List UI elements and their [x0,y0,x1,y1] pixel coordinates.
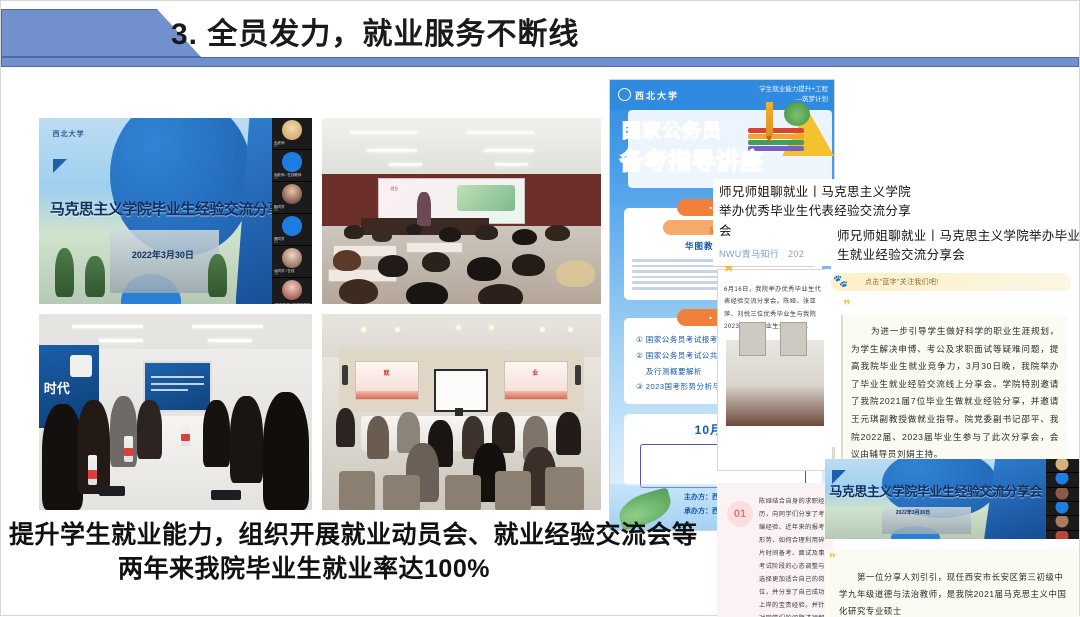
projection-screen: 就业 [378,178,525,225]
screen-heading: 就 [383,368,389,377]
participant-tile [1046,473,1079,487]
slide-title-bar: 3. 全员发力，就业服务不断线 [1,9,1079,65]
meeting-slide-title: 马克思主义学院毕业生经验交流分享会 [829,481,1042,500]
mid-card-text: 陈娅结合自身的求职经历，向同学们分享了考编经验、近年来的报考形势、如何合理利用碎… [759,495,829,617]
avatar [282,248,302,268]
avatar [282,216,302,236]
participant-video-rail [1046,459,1079,539]
quote-mark-icon: ❞ [843,297,851,314]
section-number-badge: 01 [727,501,753,527]
participant-tile: 王老师 [272,118,312,150]
meeting-status-text: 安全会议 · 已开始录制 [274,303,311,304]
participant-tile [1046,502,1079,516]
caption-line-1: 提升学生就业能力，组织开展就业动员会、就业经验交流会等 [9,519,599,553]
tree-icon [85,256,104,297]
tree-icon [208,254,227,297]
avatar [1056,516,1069,528]
avatar [1056,473,1069,485]
mid-card-photo [726,340,824,426]
article-source: NWU青马知行 [719,249,779,259]
meeting-slide-title: 马克思主义学院毕业生经验交流分享会 [50,198,297,219]
photo-round-table-meeting: 时代 [39,314,312,510]
round-table-scene: 时代 [39,314,312,510]
avatar [282,280,302,300]
projection-screen-right: 业 [504,361,567,400]
avatar [1056,531,1069,539]
participant-tile [1046,516,1079,530]
avatar [282,120,302,140]
meeting-slide-date: 2022年3月30日 [132,248,194,261]
tree-icon [784,102,810,126]
presentation-slide: 3. 全员发力，就业服务不断线 西北大学 马克思主义学院毕业生经验交流分享会 2… [0,0,1080,616]
participant-tile [1046,459,1079,473]
logo-mark-icon [618,88,631,101]
participant-name: 王老师 [274,141,285,146]
follow-prompt-bar[interactable]: 🐾 点击"蓝字"关注我们吧! [831,273,1071,291]
participant-video-rail: 王老师 刘老师 / 在线教师 陈同学 罗同学 [272,118,312,304]
participant-name: 罗同学 [274,237,285,242]
caption-text: 第一位分享人刘引引，现任西安市长安区第三初级中学九年级道德与法治教师，是我院20… [839,569,1069,617]
participant-tile [1046,531,1079,539]
mid-article-column: ★ 6月16日，我院举办优秀毕业生代表经验交流分享会。陈娅、张亚萍、刘悦三位优秀… [717,269,833,617]
meeting-shared-slide: 马克思主义学院毕业生经验交流分享会 2022年3月30日 [825,459,1046,539]
avatar [1056,488,1069,500]
projection-screen-left: 就 [355,361,418,400]
photo-lecture-hall: 就业 [322,118,601,304]
embedded-meeting-screenshot: 马克思主义学院毕业生经验交流分享会 2022年3月30日 [825,459,1079,539]
mid-article-card-2: 01 陈娅结合自身的求职经历，向同学们分享了考编经验、近年来的报考形势、如何合理… [717,483,833,617]
participant-tile: 刘老师 / 在线教师 [272,150,312,182]
campus-building [110,230,219,293]
slide-caption: 提升学生就业能力，组织开展就业动员会、就业经验交流会等 两年来我院毕业生就业率达… [9,519,599,587]
participant-name: 陈同学 [274,205,285,210]
poster-headline-red: 国家公务员 [622,116,722,143]
avatar [282,184,302,204]
audience-seating [322,220,601,304]
caption-line-2: 两年来我院毕业生就业率达100% [9,553,599,587]
pencil-icon [766,102,773,136]
participant-tile: 安全会议 · 已开始录制 [272,278,312,304]
avatar [282,152,302,172]
wechat-article-body: 🐾 点击"蓝字"关注我们吧! ❞ 为进一步引导学生做好科学的职业生涯规划，为学生… [825,269,1079,447]
participant-tile: 罗同学 [272,214,312,246]
lecture-hall-scene: 就业 [322,118,601,304]
poster-headline-blue: 备考指导讲座 [620,142,764,176]
avatar [1056,459,1069,471]
banner-card [70,355,92,376]
ceiling [39,314,312,349]
mid-article-card-1: ★ 6月16日，我院举办优秀毕业生代表经验交流分享会。陈娅、张亚萍、刘悦三位优秀… [717,269,833,471]
conference-room-scene: 就 业 [322,314,601,510]
participant-tile [1046,488,1079,502]
university-logo: 西北大学 [618,88,679,102]
triangle-decoration-icon [53,159,67,173]
mid-card-text: 6月16日，我院举办优秀毕业生代表经验交流分享会。陈娅、张亚萍、刘悦三位优秀毕业… [718,270,832,338]
photo-online-meeting: 西北大学 马克思主义学院毕业生经验交流分享会 2022年3月30日 王老师 刘老… [39,118,312,304]
university-logo: 西北大学 [53,129,85,139]
tree-icon [55,248,74,296]
article-body-text: 为进一步引导学生做好科学的职业生涯规划，为学生解决申博、考公及求职面试等疑难问题… [841,315,1067,474]
participant-tile: 马同学 / 在线 [272,246,312,278]
participant-name: 马同学 / 在线 [274,269,294,274]
banner-text: 时代 [44,378,70,397]
speaker-icon [575,365,582,385]
speaker-icon [342,365,349,385]
follow-prompt-text: 点击"蓝字"关注我们吧! [865,277,939,287]
meeting-slide-date: 2022年3月30日 [896,509,930,516]
screen-footer-band [356,391,417,399]
paw-icon: 🐾 [833,274,848,288]
article-date: 202 [788,249,804,259]
page-title: 3. 全员发力，就业服务不断线 [171,15,871,59]
quote-mark-icon: ❞ [829,551,836,567]
avatar [1056,502,1069,514]
embedded-article-caption: ❞ 第一位分享人刘引引，现任西安市长安区第三初级中学九年级道德与法治教师，是我院… [825,549,1079,617]
screen-image [457,185,515,211]
meeting-shared-slide: 西北大学 马克思主义学院毕业生经验交流分享会 2022年3月30日 [39,118,312,304]
ceiling [322,118,601,178]
photo-grid: 西北大学 马克思主义学院毕业生经验交流分享会 2022年3月30日 王老师 刘老… [39,118,601,510]
screen-heading: 业 [532,368,538,377]
screen-text: 就业 [390,186,398,192]
center-display [434,369,488,412]
article-title[interactable]: 师兄师姐聊就业丨马克思主义学院举办毕业生就业经验交流分享会 [837,227,1079,266]
participant-name: 刘老师 / 在线教师 [274,173,301,178]
participant-tile: 陈同学 [272,182,312,214]
photo-conference-room: 就 业 [322,314,601,510]
screen-footer-band [505,391,566,399]
